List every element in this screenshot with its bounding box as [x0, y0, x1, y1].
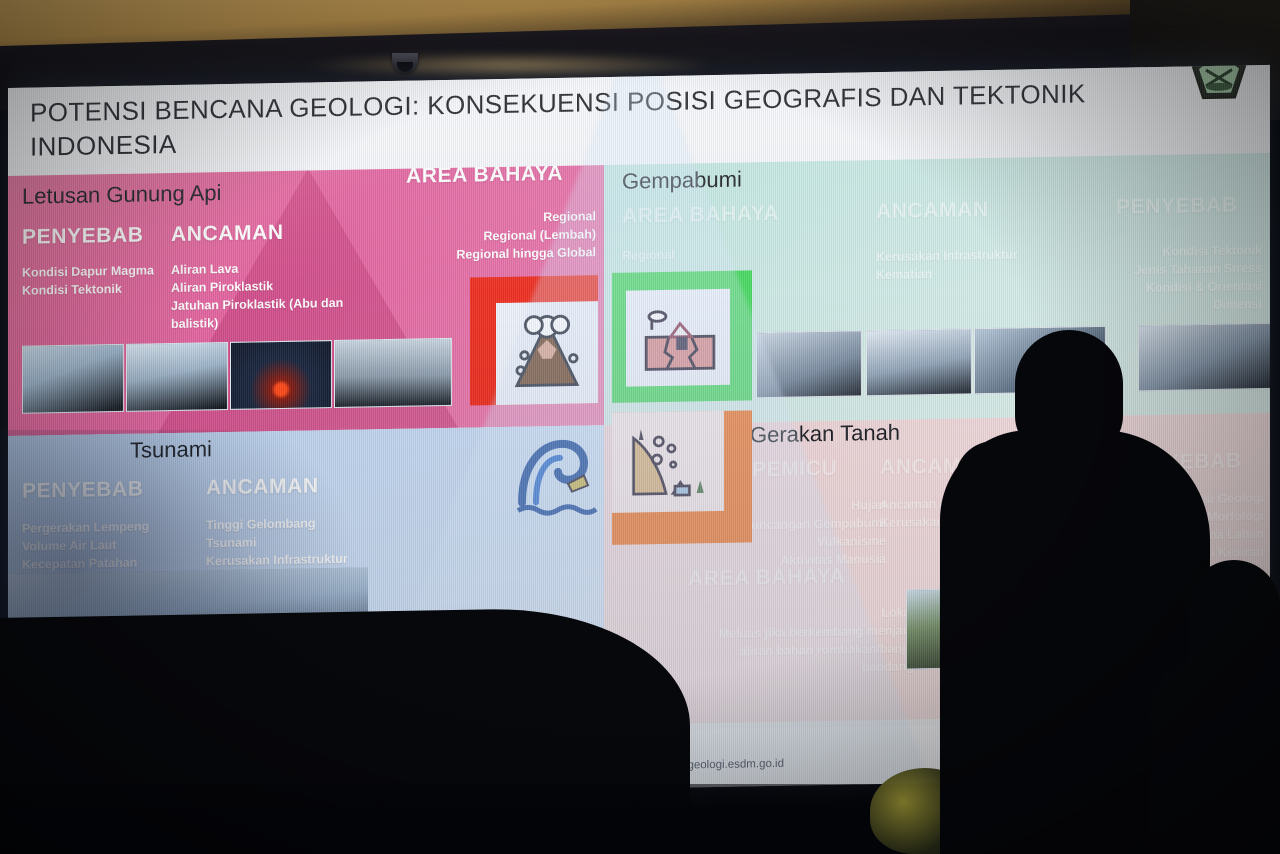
column-head-landslide-area: AREA BAHAYA	[688, 565, 845, 592]
column-list-quake-penyebab: Kondisi Tektonik Jenis Tahanan Stress Ko…	[1008, 241, 1262, 318]
column-list-volcano-area: Regional Regional (Lembah) Regional hing…	[328, 207, 596, 266]
photo-quake-1	[756, 330, 862, 398]
column-list-volcano-penyebab: Kondisi Dapur Magma Kondisi Tektonik	[22, 261, 154, 300]
icon-tile-earthquake	[612, 270, 752, 403]
silhouette-audience-head	[1188, 560, 1280, 690]
silhouette-presenter-arm	[951, 436, 1059, 624]
column-list-volcano-ancaman: Aliran Lava Aliran Piroklastik Jatuhan P…	[171, 257, 401, 334]
column-head-volcano-area: AREA BAHAYA	[406, 162, 563, 189]
column-head-quake-area: AREA BAHAYA	[622, 202, 779, 229]
column-head-landslide-pemicu: PEMICU	[752, 457, 837, 483]
hazard-name-volcano: Letusan Gunung Api	[22, 180, 221, 210]
column-head-quake-penyebab: PENYEBAB	[1116, 193, 1238, 219]
column-head-volcano-ancaman: ANCAMAN	[171, 221, 284, 247]
hazard-name-landslide: Gerakan Tanah	[750, 420, 900, 449]
icon-tile-tsunami	[506, 425, 606, 531]
column-list-quake-ancaman: Kerusakan Infrastruktur Kematian	[876, 245, 1018, 284]
photo-of-presentation-room: POTENSI BENCANA GEOLOGI: KONSEKUENSI POS…	[0, 0, 1280, 854]
hazard-name-earthquake: Gempabumi	[622, 167, 742, 195]
photo-volcano-eruption	[230, 340, 332, 410]
icon-tile-volcano	[470, 275, 598, 405]
photo-quake-4	[1138, 323, 1270, 391]
column-list-tsunami-ancaman: Tinggi Gelombang Tsunami Kerusakan Infra…	[206, 514, 348, 571]
column-head-tsunami-ancaman: ANCAMAN	[206, 474, 319, 500]
photo-quake-2	[866, 328, 972, 396]
photo-volcano-1	[22, 344, 124, 414]
column-list-quake-area: Regional	[622, 246, 675, 265]
column-head-quake-ancaman: ANCAMAN	[876, 198, 989, 224]
photo-ashfall-airport	[334, 338, 452, 408]
column-head-tsunami-penyebab: PENYEBAB	[22, 478, 144, 504]
ceiling-light-glow	[300, 52, 720, 78]
hazard-name-tsunami: Tsunami	[130, 436, 212, 464]
badan-geologi-logo-icon	[1188, 65, 1250, 105]
icon-tile-landslide	[612, 410, 752, 545]
photo-volcano-2	[126, 342, 228, 412]
column-head-volcano-penyebab: PENYEBAB	[22, 224, 144, 250]
